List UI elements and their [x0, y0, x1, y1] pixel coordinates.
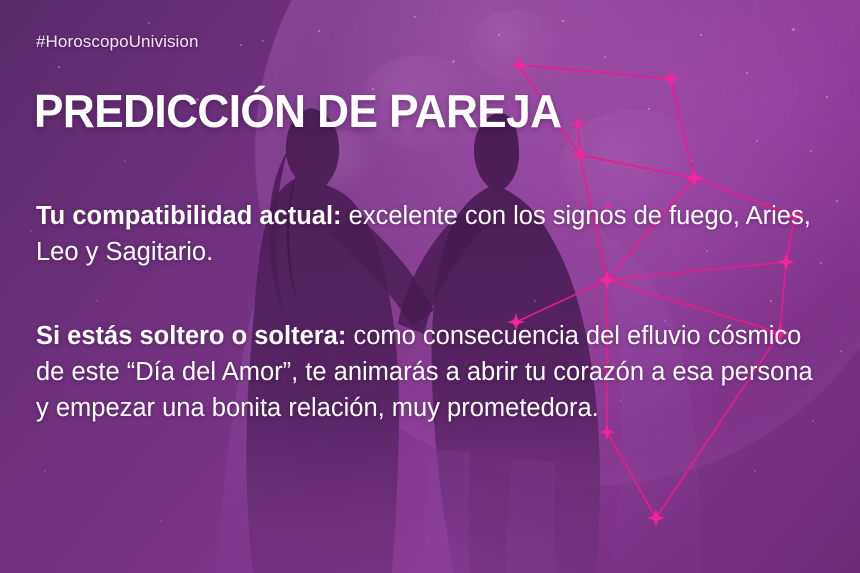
horoscope-card: #HoroscopoUnivision PREDICCIÓN DE PAREJA… — [0, 0, 860, 573]
paragraph-single: Si estás soltero o soltera: como consecu… — [36, 318, 826, 426]
page-title: PREDICCIÓN DE PAREJA — [34, 88, 561, 134]
hashtag-label: #HoroscopoUnivision — [36, 32, 199, 52]
paragraph-lead-compatibility: Tu compatibilidad actual: — [36, 202, 342, 230]
paragraph-lead-single: Si estás soltero o soltera: — [36, 322, 346, 350]
paragraph-compatibility: Tu compatibilidad actual: excelente con … — [36, 198, 826, 270]
text-content: #HoroscopoUnivision PREDICCIÓN DE PAREJA… — [0, 0, 860, 573]
